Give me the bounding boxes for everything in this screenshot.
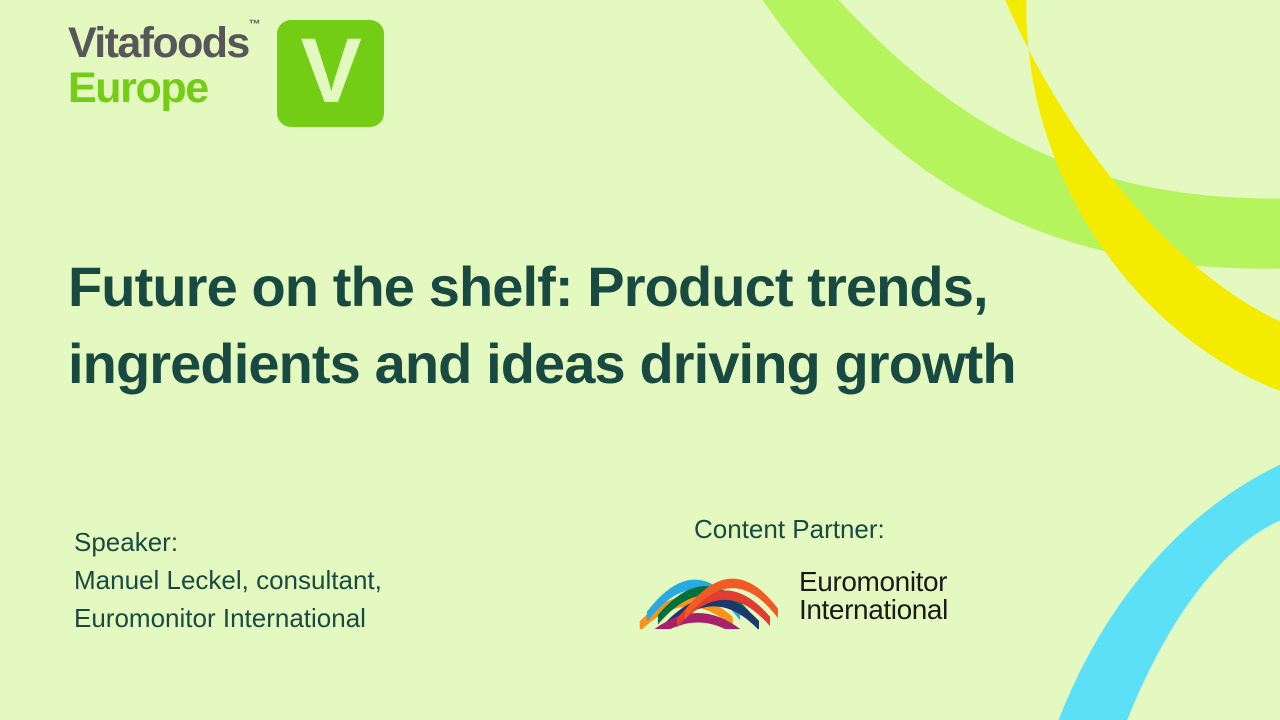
euromonitor-wordmark: Euromonitor International [799,568,948,625]
euromonitor-wordmark-line-2: International [799,596,948,625]
euromonitor-rainbow-arcs-icon [639,563,789,629]
logo-vitafoods-text: Vitafoods [68,19,249,67]
slide-title: Future on the shelf: Product trends, ing… [68,249,1138,402]
green-arc-decoration [742,0,1280,269]
vitafoods-europe-logo: Vitafoods™ Europe V [68,14,384,127]
content-partner-block: Content Partner: Euromonitor Internation… [694,514,948,629]
speaker-name-role: Manuel Leckel, consultant, [74,562,382,600]
cyan-arc-decoration [1048,452,1280,720]
content-partner-label: Content Partner: [694,514,948,545]
slide-title-line-1: Future on the shelf: Product trends, [68,249,1138,326]
logo-v-letter: V [301,25,360,117]
euromonitor-logo: Euromonitor International [639,563,948,629]
logo-v-badge: V [277,20,384,127]
logo-wordmark-line-europe: Europe [68,66,261,111]
speaker-organisation: Euromonitor International [74,600,382,638]
trademark-icon: ™ [249,17,261,31]
speaker-label: Speaker: [74,524,382,562]
euromonitor-wordmark-line-1: Euromonitor [799,568,948,597]
slide-title-line-2: ingredients and ideas driving growth [68,326,1138,403]
speaker-block: Speaker: Manuel Leckel, consultant, Euro… [74,524,382,638]
logo-wordmark-line-vitafoods: Vitafoods™ [68,23,261,64]
logo-wordmark: Vitafoods™ Europe [68,14,261,111]
